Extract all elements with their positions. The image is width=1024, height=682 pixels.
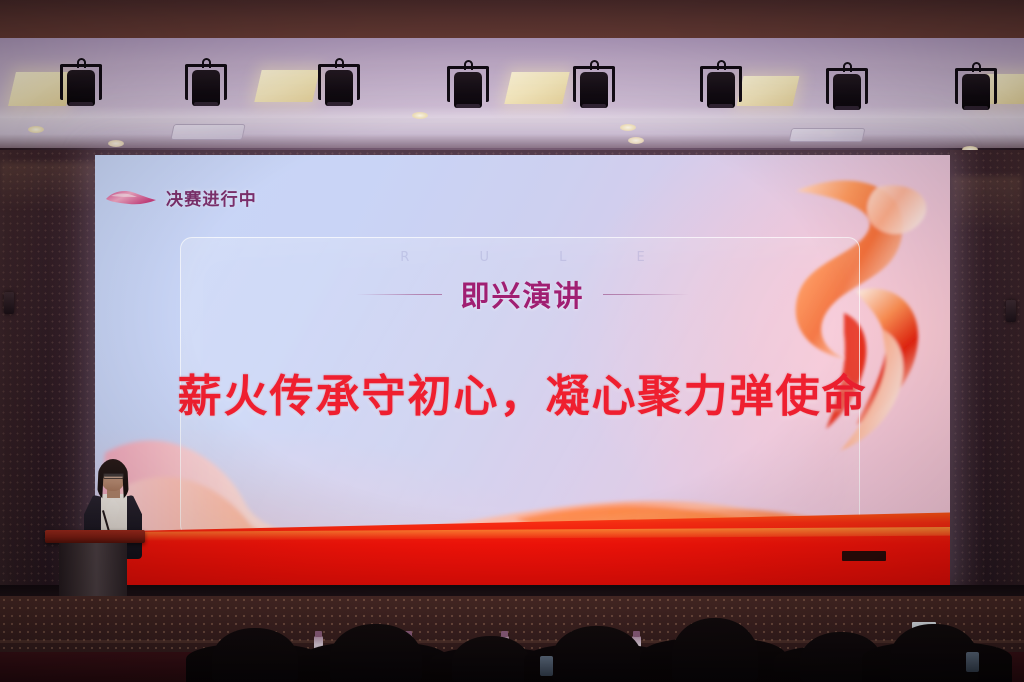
stage-spotlight-icon bbox=[60, 58, 102, 110]
ceiling-vent bbox=[170, 124, 245, 140]
slide-section-title-row: 即兴演讲 bbox=[95, 273, 950, 315]
smartphone-icon bbox=[966, 652, 979, 672]
ceiling-panel-light bbox=[254, 70, 319, 102]
stage-spotlight-icon bbox=[826, 62, 868, 114]
recessed-downlight-icon bbox=[620, 124, 636, 131]
audience-member bbox=[890, 624, 978, 682]
stage-spotlight-icon bbox=[573, 60, 615, 112]
stage-spotlight-icon bbox=[955, 62, 997, 114]
wall-speaker-box bbox=[4, 292, 14, 314]
audience-member bbox=[452, 636, 530, 682]
rule-watermark-text: R U L E bbox=[95, 250, 950, 265]
stage-spotlight-icon bbox=[185, 58, 227, 110]
led-presentation-screen[interactable]: 决赛进行中 R U L E 即兴演讲 薪火传承守初心，凝心聚力弹使命 bbox=[95, 155, 950, 585]
auditorium-scene: 决赛进行中 R U L E 即兴演讲 薪火传承守初心，凝心聚力弹使命 bbox=[0, 0, 1024, 682]
ceiling-dark-band bbox=[0, 0, 1024, 42]
stage-spotlight-icon bbox=[700, 60, 742, 112]
ribbon-flourish-icon bbox=[105, 187, 157, 209]
slide-headline: 薪火传承守初心，凝心聚力弹使命 bbox=[95, 360, 950, 424]
audience-member bbox=[330, 624, 422, 682]
audience-member bbox=[672, 618, 758, 682]
wall-speaker-box bbox=[1006, 300, 1016, 322]
ceiling-panel-light bbox=[737, 76, 800, 106]
eyeglasses-icon bbox=[103, 473, 124, 479]
recessed-downlight-icon bbox=[412, 112, 428, 119]
stage-spotlight-icon bbox=[318, 58, 360, 110]
recessed-downlight-icon bbox=[28, 126, 44, 133]
slide-brand-row: 决赛进行中 bbox=[105, 185, 257, 210]
band-dark-mark bbox=[842, 551, 886, 561]
slide-section-title: 即兴演讲 bbox=[460, 273, 584, 315]
ceiling-vent bbox=[789, 128, 866, 142]
audience-member bbox=[552, 626, 642, 682]
podium-top bbox=[45, 530, 145, 543]
smartphone-icon bbox=[540, 656, 553, 676]
stage-spotlight-icon bbox=[447, 60, 489, 112]
title-rule-left bbox=[356, 294, 442, 295]
wall-light-sheen bbox=[0, 162, 95, 232]
recessed-downlight-icon bbox=[628, 137, 644, 144]
title-rule-right bbox=[603, 294, 689, 295]
recessed-downlight-icon bbox=[108, 140, 124, 147]
audience-member bbox=[212, 628, 298, 682]
slide-brand-label: 决赛进行中 bbox=[166, 185, 257, 210]
wall-light-sheen bbox=[952, 176, 1022, 256]
ceiling-panel-light bbox=[504, 72, 569, 104]
